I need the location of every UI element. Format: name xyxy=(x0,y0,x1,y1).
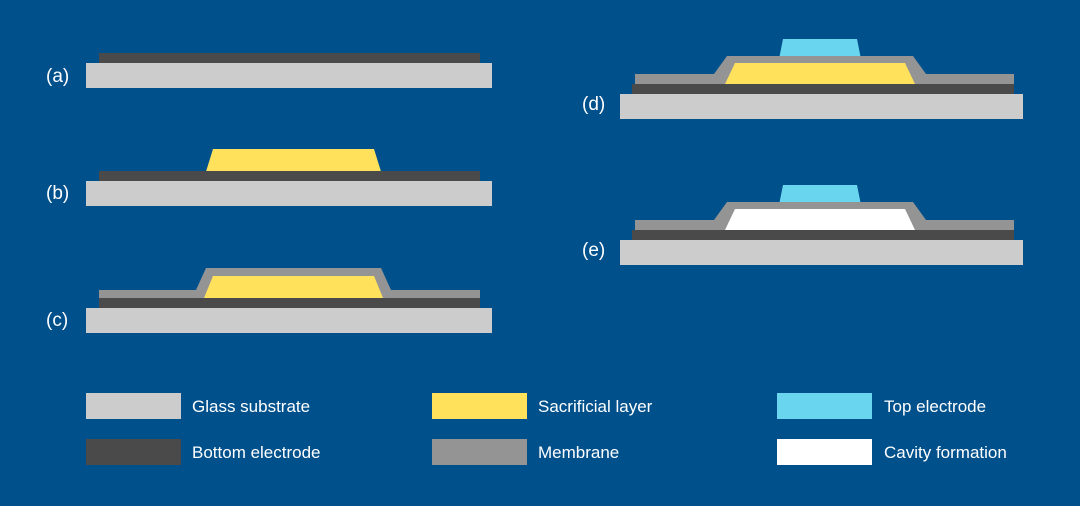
legend-item-membrane: Membrane xyxy=(432,439,619,465)
panel-c-label: (c) xyxy=(46,310,68,331)
panel-a-label: (a) xyxy=(46,66,69,87)
panel-e-bottom-electrode xyxy=(632,230,1014,240)
panel-b-label: (b) xyxy=(46,183,69,204)
panel-c-bottom-electrode xyxy=(99,298,480,308)
legend-label-cavity-formation: Cavity formation xyxy=(884,443,1007,462)
panel-a: (a) xyxy=(46,53,492,88)
panel-b-glass-substrate xyxy=(86,181,492,206)
legend-label-bottom-electrode: Bottom electrode xyxy=(192,443,321,462)
legend-label-top-electrode: Top electrode xyxy=(884,397,986,416)
panel-b-bottom-electrode xyxy=(99,171,480,181)
panel-d-bottom-electrode xyxy=(632,84,1014,94)
legend-label-membrane: Membrane xyxy=(538,443,619,462)
legend-swatch-membrane xyxy=(432,439,527,465)
legend-item-cavity-formation: Cavity formation xyxy=(777,439,1007,465)
panel-c-glass-substrate xyxy=(86,308,492,333)
panel-e-cavity-formation xyxy=(725,209,915,230)
legend-swatch-sacrificial-layer xyxy=(432,393,527,419)
panel-d-glass-substrate xyxy=(620,94,1023,119)
legend-label-sacrificial-layer: Sacrificial layer xyxy=(538,397,653,416)
legend-swatch-bottom-electrode xyxy=(86,439,181,465)
legend-swatch-top-electrode xyxy=(777,393,872,419)
legend-swatch-cavity-formation xyxy=(777,439,872,465)
panel-a-glass-substrate xyxy=(86,63,492,88)
panel-d-label: (d) xyxy=(582,94,605,115)
legend-item-sacrificial-layer: Sacrificial layer xyxy=(432,393,653,419)
process-flow-diagram: (a) (b) (c) (d) (e) xyxy=(0,0,1080,506)
legend-swatch-glass-substrate xyxy=(86,393,181,419)
panel-e-label: (e) xyxy=(582,240,605,261)
panel-c-sacrificial-layer xyxy=(204,276,383,298)
legend-item-bottom-electrode: Bottom electrode xyxy=(86,439,321,465)
legend-label-glass-substrate: Glass substrate xyxy=(192,397,310,416)
panel-e-glass-substrate xyxy=(620,240,1023,265)
legend-item-glass-substrate: Glass substrate xyxy=(86,393,310,419)
panel-a-bottom-electrode xyxy=(99,53,480,63)
panel-d-sacrificial-layer xyxy=(725,63,915,84)
